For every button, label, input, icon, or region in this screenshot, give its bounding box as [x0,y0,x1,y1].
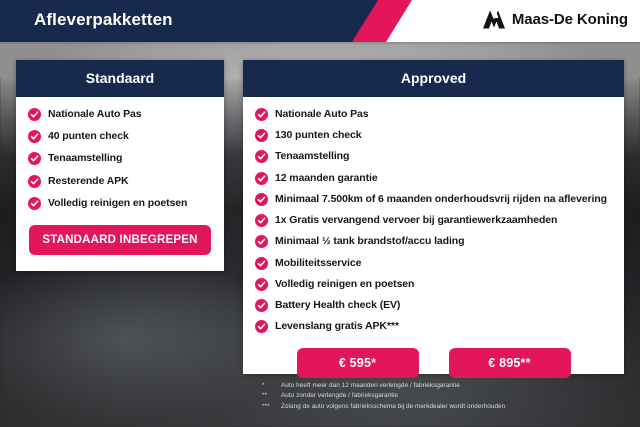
footnote-item: *** Zolang de auto volgens fabrieksschem… [262,402,632,412]
check-circle-icon [255,108,268,121]
list-item-label: Levenslang gratis APK*** [275,319,399,334]
check-circle-icon [255,214,268,227]
list-item: 130 punten check [255,128,612,143]
footnote-marker: * [262,381,275,391]
brand-lockup: Maas-De Koning [482,9,628,30]
list-item: Battery Health check (EV) [255,298,612,313]
list-item-label: 1x Gratis vervangend vervoer bij garanti… [275,213,557,228]
list-item-label: Resterende APK [48,174,129,189]
check-circle-icon [255,299,268,312]
list-item: 12 maanden garantie [255,171,612,186]
footnote-marker: ** [262,391,275,401]
list-item: 40 punten check [28,129,212,144]
check-circle-icon [255,129,268,142]
header-underline [0,42,640,44]
maas-de-koning-logo-icon [482,9,505,30]
check-circle-icon [255,193,268,206]
list-item-label: Nationale Auto Pas [48,107,142,122]
footnote-text: Zolang de auto volgens fabrieksschema bi… [281,402,505,412]
list-item-label: Battery Health check (EV) [275,298,400,313]
list-item-label: Minimaal 7.500km of 6 maanden onderhouds… [275,192,607,207]
list-item: Tenaamstelling [255,149,612,164]
list-item: Resterende APK [28,174,212,189]
list-item-label: Mobiliteitsservice [275,256,361,271]
check-circle-icon [28,152,41,165]
check-circle-icon [28,130,41,143]
footnotes: * Auto heeft meer dan 12 maanden verleng… [262,381,632,412]
package-card-standaard: Standaard Nationale Auto Pas 40 punten c… [16,60,224,271]
check-circle-icon [28,175,41,188]
card-body-standaard: Nationale Auto Pas 40 punten check Tenaa… [16,97,224,255]
list-item: Nationale Auto Pas [28,107,212,122]
footnote-text: Auto zonder verlengde / fabrieksgarantie [281,391,398,401]
list-item: Volledig reinigen en poetsen [28,196,212,211]
page-header: Afleverpakketten Maas-De Koning [0,0,640,42]
list-item: Nationale Auto Pas [255,107,612,122]
list-item: 1x Gratis vervangend vervoer bij garanti… [255,213,612,228]
brand-name: Maas-De Koning [512,11,628,28]
slide-root: Afleverpakketten Maas-De Koning Standaar… [0,0,640,427]
footnote-marker: *** [262,402,275,412]
check-circle-icon [255,278,268,291]
list-item-label: 130 punten check [275,128,362,143]
card-body-approved: Nationale Auto Pas 130 punten check Tena… [243,97,624,378]
card-title-approved: Approved [243,60,624,97]
list-item: Tenaamstelling [28,151,212,166]
check-circle-icon [255,320,268,333]
price-button-895[interactable]: € 895** [449,348,571,378]
list-item: Minimaal ½ tank brandstof/accu lading [255,234,612,249]
standaard-inbegrepen-button[interactable]: STANDAARD INBEGREPEN [29,225,211,255]
check-circle-icon [255,172,268,185]
footnote-item: ** Auto zonder verlengde / fabrieksgaran… [262,391,632,401]
footnote-text: Auto heeft meer dan 12 maanden verlengde… [281,381,460,391]
check-circle-icon [255,257,268,270]
list-item-label: Minimaal ½ tank brandstof/accu lading [275,234,464,249]
list-item-label: Nationale Auto Pas [275,107,369,122]
page-title: Afleverpakketten [34,10,173,30]
footnote-item: * Auto heeft meer dan 12 maanden verleng… [262,381,632,391]
check-circle-icon [28,197,41,210]
list-item: Mobiliteitsservice [255,256,612,271]
package-card-approved: Approved Nationale Auto Pas 130 punten c… [243,60,624,374]
list-item: Levenslang gratis APK*** [255,319,612,334]
price-button-row: € 595* € 895** [255,348,612,378]
check-circle-icon [255,150,268,163]
price-button-595[interactable]: € 595* [297,348,419,378]
list-item-label: Volledig reinigen en poetsen [275,277,414,292]
list-item-label: Tenaamstelling [48,151,122,166]
check-circle-icon [255,235,268,248]
list-item: Minimaal 7.500km of 6 maanden onderhouds… [255,192,612,207]
list-item-label: Volledig reinigen en poetsen [48,196,187,211]
list-item-label: Tenaamstelling [275,149,349,164]
list-item-label: 40 punten check [48,129,129,144]
card-title-standaard: Standaard [16,60,224,97]
list-item: Volledig reinigen en poetsen [255,277,612,292]
list-item-label: 12 maanden garantie [275,171,378,186]
check-circle-icon [28,108,41,121]
